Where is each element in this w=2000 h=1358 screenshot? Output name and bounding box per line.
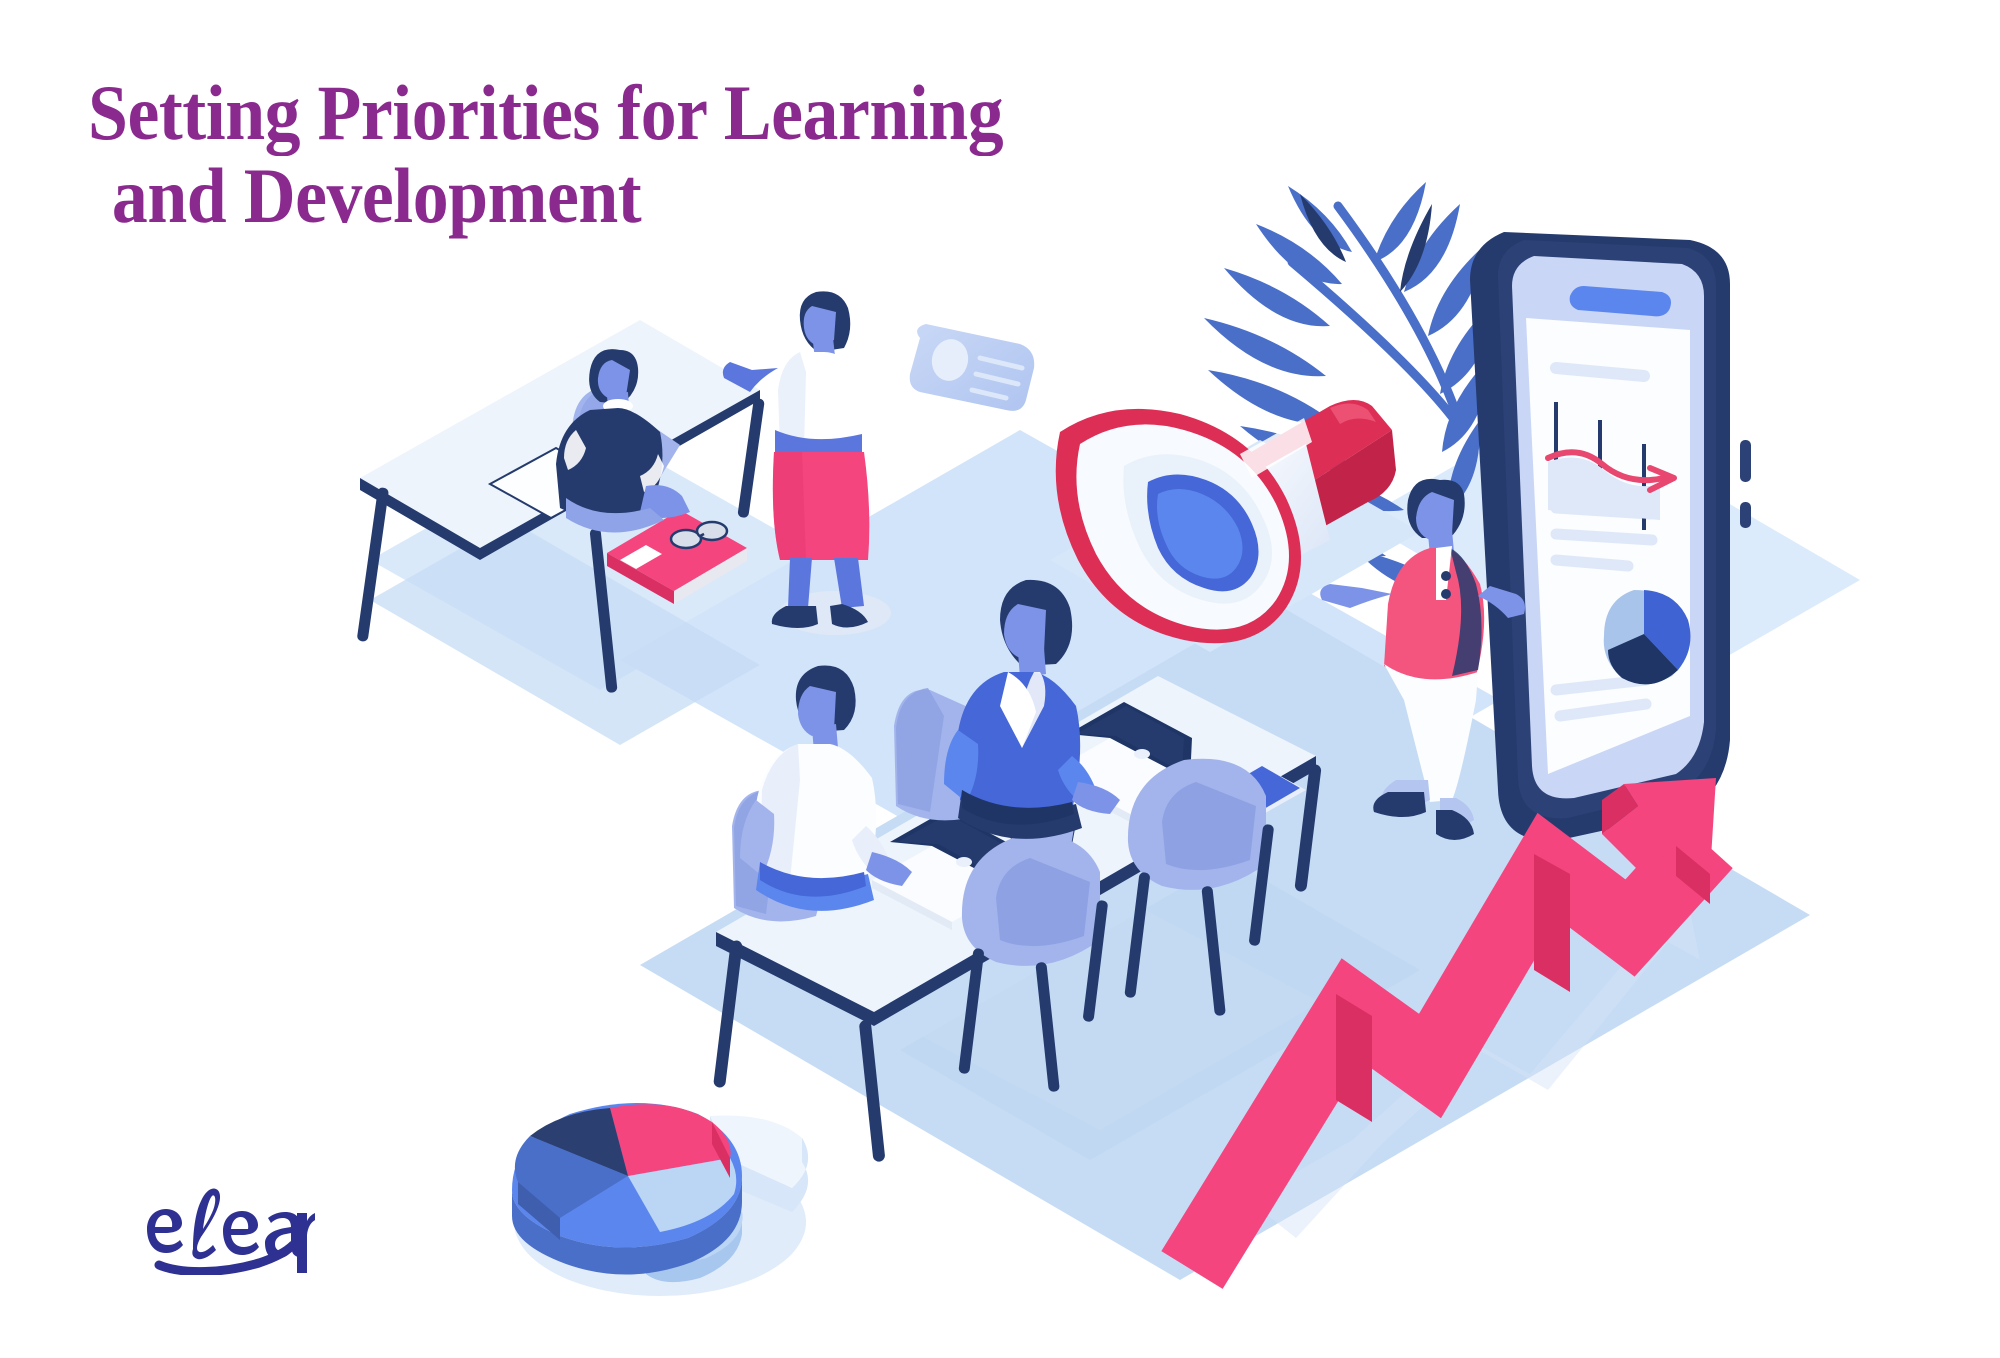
isometric-office-illustration [0,0,2000,1358]
tablet-pie-chart [1604,590,1691,684]
eleap-logo[interactable] [135,1185,315,1275]
poster-canvas: Setting Priorities for Learning and Deve… [0,0,2000,1358]
exploded-pie-chart [512,1103,808,1296]
floating-profile-card [910,324,1035,411]
